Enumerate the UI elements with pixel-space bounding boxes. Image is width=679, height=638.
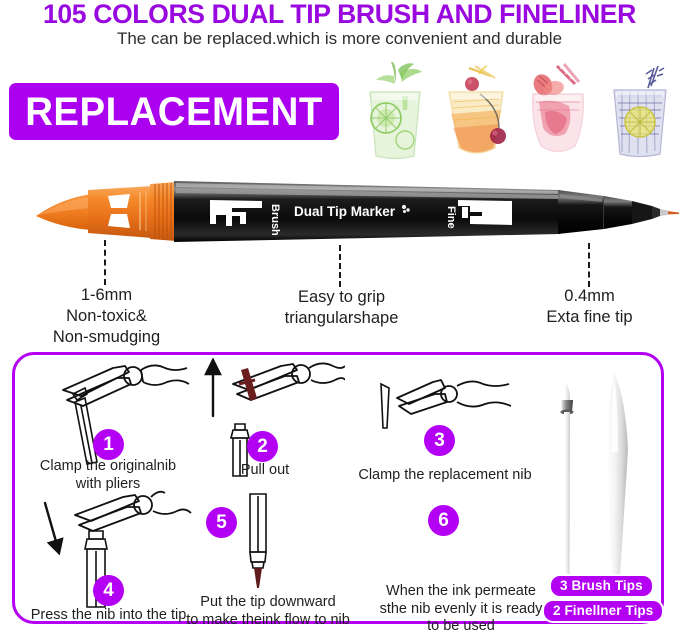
- callout-line: Exta fine tip: [497, 307, 679, 328]
- callout-line: Easy to grip: [249, 287, 434, 308]
- step-2-caption: Pull out: [205, 462, 325, 480]
- step-1-badge: 1: [93, 429, 124, 460]
- step-6-badge: 6: [428, 505, 459, 536]
- step-caption-line: to make theink flow to nib: [178, 612, 358, 630]
- step-4-badge: 4: [93, 575, 124, 606]
- step-caption-line: Clamp the originalnib: [8, 458, 208, 476]
- fineliner-tips-count-badge: 2 Finellner Tips: [544, 601, 662, 621]
- replacement-banner: REPLACEMENT: [9, 83, 339, 140]
- leader-line-fine-tip: [588, 243, 590, 287]
- pen-brush-label: Brush: [269, 204, 281, 236]
- step-caption-line: Put the tip downward: [178, 594, 358, 612]
- callout-line: triangularshape: [249, 308, 434, 329]
- page-subtitle: The can be replaced.which is more conven…: [0, 29, 679, 49]
- pink-red-cocktail-icon: [521, 62, 595, 162]
- step-2-badge: 2: [247, 431, 278, 462]
- step-5-illustration: [238, 492, 278, 592]
- callout-line: 0.4mm: [497, 286, 679, 307]
- step-caption-line: to be used: [366, 618, 556, 636]
- callout-line: 1-6mm: [14, 285, 199, 306]
- callout-brush-tip-spec: 1-6mm Non-toxic& Non-smudging: [14, 285, 199, 348]
- page-title: 105 COLORS DUAL TIP BRUSH AND FINELINER: [5, 0, 674, 30]
- step-caption-line: Clamp the replacement nib: [340, 467, 550, 485]
- leader-line-grip: [339, 245, 341, 287]
- step-1-illustration: [55, 358, 200, 468]
- infographic-page: 105 COLORS DUAL TIP BRUSH AND FINELINER …: [0, 0, 679, 638]
- callout-line: Non-toxic&: [14, 306, 199, 327]
- callout-grip-spec: Easy to grip triangularshape: [249, 287, 434, 329]
- callout-line: Non-smudging: [14, 327, 199, 348]
- drink-illustration-group: [358, 57, 676, 162]
- replacement-tips-illustration: [548, 366, 658, 581]
- step-caption-line: When the ink permeate: [366, 583, 556, 601]
- step-6-caption: When the ink permeate sthe nib evenly it…: [366, 583, 556, 636]
- brush-tips-count-badge: 3 Brush Tips: [551, 576, 652, 596]
- step-caption-line: sthe nib evenly it is ready: [366, 601, 556, 619]
- step-5-badge: 5: [206, 507, 237, 538]
- replacement-banner-label: REPLACEMENT: [25, 92, 323, 132]
- leader-line-brush-tip: [104, 240, 106, 285]
- step-5-caption: Put the tip downward to make theink flow…: [178, 594, 358, 629]
- blue-purple-lemon-cocktail-icon: [602, 62, 676, 162]
- step-caption-line: Pull out: [205, 462, 325, 480]
- pen-brand-text: Dual Tip Marker: [294, 204, 396, 219]
- step-3-badge: 3: [424, 425, 455, 456]
- pen-fine-label: Fine: [445, 206, 457, 229]
- green-mint-cocktail-icon: [358, 62, 432, 162]
- yellow-orange-cherry-cocktail-icon: [439, 62, 513, 162]
- callout-fine-tip-spec: 0.4mm Exta fine tip: [497, 286, 679, 328]
- step-3-caption: Clamp the replacement nib: [340, 467, 550, 485]
